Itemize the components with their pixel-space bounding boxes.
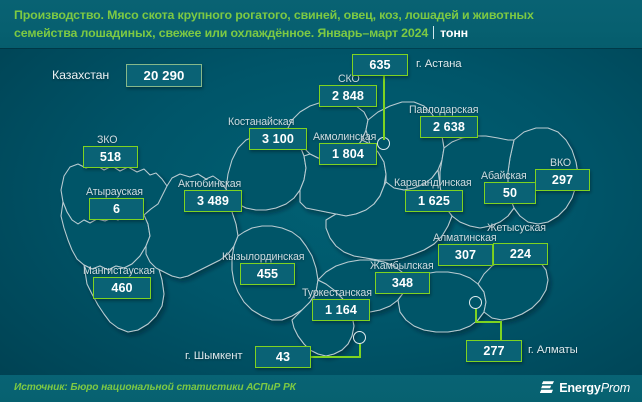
region-value-akmolinskaya[interactable]: 1 804 [319, 143, 377, 165]
region-value-zhetysuskaya[interactable]: 224 [493, 243, 548, 265]
region-label-aktyubinskaya: Актюбинская [178, 178, 241, 190]
region-value-sko[interactable]: 2 848 [319, 85, 377, 107]
region-value-atyrauskaya[interactable]: 6 [89, 198, 144, 220]
country-total-value[interactable]: 20 290 [126, 64, 202, 87]
region-label-kostanayskaya: Костанайская [228, 116, 294, 128]
region-value-mangistauskaya[interactable]: 460 [93, 277, 151, 299]
city-value-astana[interactable]: 635 [352, 54, 408, 76]
footer-band: Источник: Бюро национальной статистики А… [0, 375, 642, 402]
region-label-mangistauskaya: Мангистауская [83, 265, 155, 277]
logo-text-energy: Energy [559, 381, 601, 395]
region-value-aktyubinskaya[interactable]: 3 489 [184, 190, 242, 212]
unit-divider [433, 26, 434, 39]
region-label-turkestanskaya: Туркестанская [302, 287, 372, 299]
infographic-root: Производство. Мясо скота крупного рогато… [0, 0, 642, 402]
header-band: Производство. Мясо скота крупного рогато… [0, 0, 642, 48]
region-label-zhetysuskaya: Жетысуская [487, 222, 546, 234]
region-label-akmolinskaya: Акмолинская [313, 131, 376, 143]
city-value-almaty[interactable]: 277 [466, 340, 522, 362]
region-value-almatinskaya[interactable]: 307 [438, 244, 493, 266]
unit-group: тонн [428, 25, 468, 43]
energyprom-logo[interactable]: EnergyProm [540, 380, 630, 395]
title-line-1: Производство. Мясо скота крупного рогато… [14, 8, 534, 22]
region-value-turkestanskaya[interactable]: 1 164 [312, 299, 370, 321]
city-value-shymkent[interactable]: 43 [255, 346, 311, 368]
leader-line-almaty-h [475, 321, 501, 323]
leader-line-almaty-v2 [500, 321, 502, 341]
city-marker-shymkent [353, 331, 366, 344]
region-label-zhambylskaya: Жамбылская [370, 260, 434, 272]
city-label-shymkent: г. Шымкент [185, 350, 243, 362]
region-value-abayskaya[interactable]: 50 [484, 182, 536, 204]
source-note: Источник: Бюро национальной статистики А… [14, 382, 296, 393]
city-label-astana: г. Астана [416, 58, 462, 70]
region-label-vko: ВКО [550, 157, 571, 169]
region-label-kyzylordinskaya: Кызылординская [222, 251, 304, 263]
unit-label: тонн [440, 26, 468, 40]
region-value-kostanayskaya[interactable]: 3 100 [249, 128, 307, 150]
region-label-abayskaya: Абайская [481, 170, 527, 182]
region-label-pavlodarskaya: Павлодарская [409, 104, 478, 116]
city-marker-almaty [469, 296, 482, 309]
region-label-atyrauskaya: Атырауская [86, 186, 143, 198]
region-value-kyzylordinskaya[interactable]: 455 [240, 263, 295, 285]
region-value-karagandinskaya[interactable]: 1 625 [405, 190, 463, 212]
region-value-pavlodarskaya[interactable]: 2 638 [420, 116, 478, 138]
region-value-vko[interactable]: 297 [535, 169, 590, 191]
page-title: Производство. Мясо скота крупного рогато… [14, 7, 629, 42]
title-line-2: семейства лошадиных, свежее или охлаждён… [14, 26, 428, 40]
country-total-label: Казахстан [52, 68, 109, 82]
region-label-zko: ЗКО [97, 134, 117, 146]
energyprom-e-icon [540, 380, 555, 395]
region-label-karagandinskaya: Карагандинская [394, 177, 472, 189]
city-label-almaty: г. Алматы [528, 344, 578, 356]
logo-text-prom: Prom [601, 381, 630, 395]
energyprom-wordmark: EnergyProm [559, 381, 630, 395]
region-value-zhambylskaya[interactable]: 348 [375, 272, 430, 294]
region-value-zko[interactable]: 518 [83, 146, 138, 168]
